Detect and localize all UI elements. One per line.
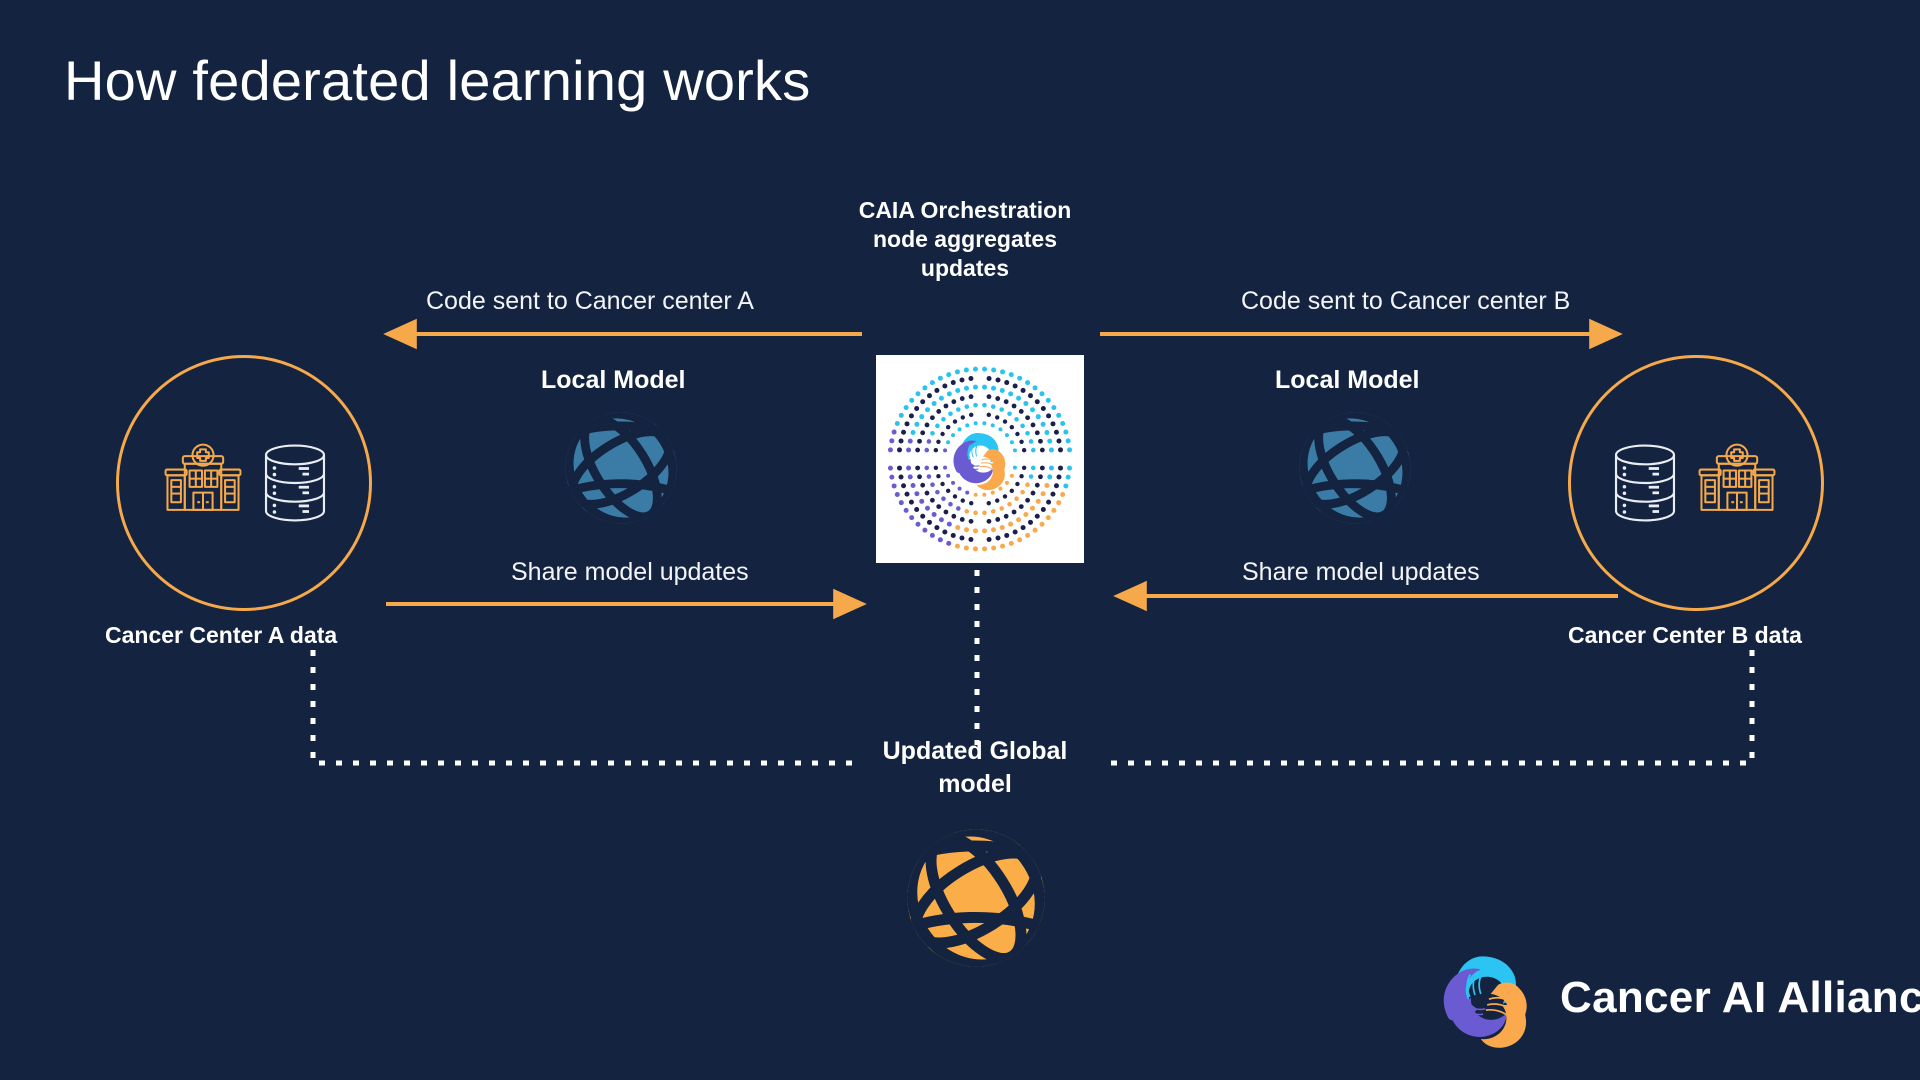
dotted-connector-a xyxy=(313,650,862,763)
local-model-a-title: Local Model xyxy=(541,366,685,395)
updated-global-model-caption: Updated Global model xyxy=(860,735,1090,800)
globe-icon-local-a xyxy=(558,405,684,531)
slide-canvas: How federated learning works CAIA Orches… xyxy=(0,0,1920,1080)
three-hands-icon xyxy=(1432,946,1540,1050)
caia-orchestration-node[interactable] xyxy=(876,355,1084,563)
globe-icon-local-b xyxy=(1292,405,1418,531)
hospital-icon xyxy=(1689,435,1785,531)
hospital-icon xyxy=(155,435,251,531)
database-icon xyxy=(1607,440,1683,526)
arrow-label-code-to-a: Code sent to Cancer center A xyxy=(426,287,754,316)
brand-lockup: Cancer AI Alliance xyxy=(1432,946,1920,1050)
arrow-label-share-from-b: Share model updates xyxy=(1242,558,1480,587)
globe-icon-updated-global xyxy=(898,820,1054,976)
page-title: How federated learning works xyxy=(64,48,810,113)
cancer-center-a-circle[interactable] xyxy=(116,355,372,611)
arrow-label-share-from-a: Share model updates xyxy=(511,558,749,587)
dotted-connector-b xyxy=(1100,650,1752,763)
brand-name: Cancer AI Alliance xyxy=(1560,973,1920,1023)
local-model-b-title: Local Model xyxy=(1275,366,1419,395)
cancer-center-b-label: Cancer Center B data xyxy=(1568,622,1802,649)
cancer-center-a-label: Cancer Center A data xyxy=(105,622,337,649)
caia-dot-ring-logo xyxy=(876,355,1084,563)
arrow-label-code-to-b: Code sent to Cancer center B xyxy=(1241,287,1570,316)
database-icon xyxy=(257,440,333,526)
caia-node-caption: CAIA Orchestration node aggregates updat… xyxy=(855,196,1075,284)
cancer-center-b-circle[interactable] xyxy=(1568,355,1824,611)
